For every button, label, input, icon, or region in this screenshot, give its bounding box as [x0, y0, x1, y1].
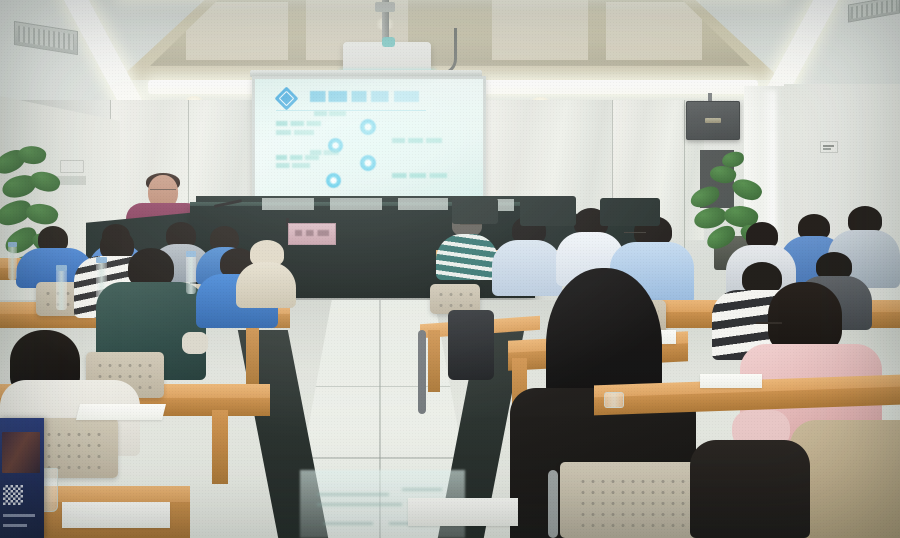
handout-paper	[76, 404, 166, 420]
tile-seam	[288, 457, 478, 459]
bottle-cap	[56, 265, 67, 271]
chair-dark	[600, 198, 660, 226]
banner-image	[2, 432, 41, 473]
plastic-cup	[604, 392, 624, 408]
chair-frame	[548, 470, 558, 538]
chair-dark	[452, 198, 498, 224]
glasses-icon	[756, 322, 782, 330]
bottle-cap	[8, 242, 17, 247]
desk-leg	[212, 410, 228, 484]
handout-paper	[408, 498, 518, 526]
tile-seam	[288, 386, 478, 388]
water-bottle	[186, 256, 196, 294]
attendee-torso	[436, 234, 498, 280]
glasses-icon	[150, 189, 176, 195]
attendee-foreground-dark	[690, 440, 810, 538]
glasses-icon	[460, 224, 482, 229]
podium-panel	[398, 198, 448, 210]
water-bottle	[56, 270, 67, 310]
handout-paper	[700, 374, 762, 388]
wall-sign	[820, 141, 838, 153]
qr-code-icon	[3, 485, 23, 505]
attendee-sleeve	[182, 332, 208, 354]
wall-speaker	[686, 101, 740, 140]
handout-paper	[62, 502, 170, 528]
attendee-legs	[448, 310, 494, 380]
desk-leg	[246, 322, 259, 384]
podium-panel	[262, 198, 314, 210]
standing-banner	[0, 418, 44, 538]
name-card-text	[295, 230, 328, 236]
chair	[560, 462, 710, 538]
projector-lens	[382, 37, 395, 47]
conference-room-photo	[0, 0, 900, 538]
attendee-cream-cap	[236, 240, 296, 306]
glasses-icon	[624, 232, 646, 238]
podium-panel	[330, 198, 382, 210]
chair-frame	[418, 330, 426, 414]
speaker-brand-badge	[705, 118, 721, 123]
projector-mount-plate	[375, 2, 395, 12]
screen-light-bloom	[246, 70, 486, 200]
cove-panel	[492, 0, 588, 60]
cove-panel	[606, 2, 702, 61]
water-bottle	[8, 246, 17, 280]
bottle-cap	[186, 251, 196, 257]
chair-dark	[520, 196, 576, 226]
desk-leg	[428, 330, 440, 392]
